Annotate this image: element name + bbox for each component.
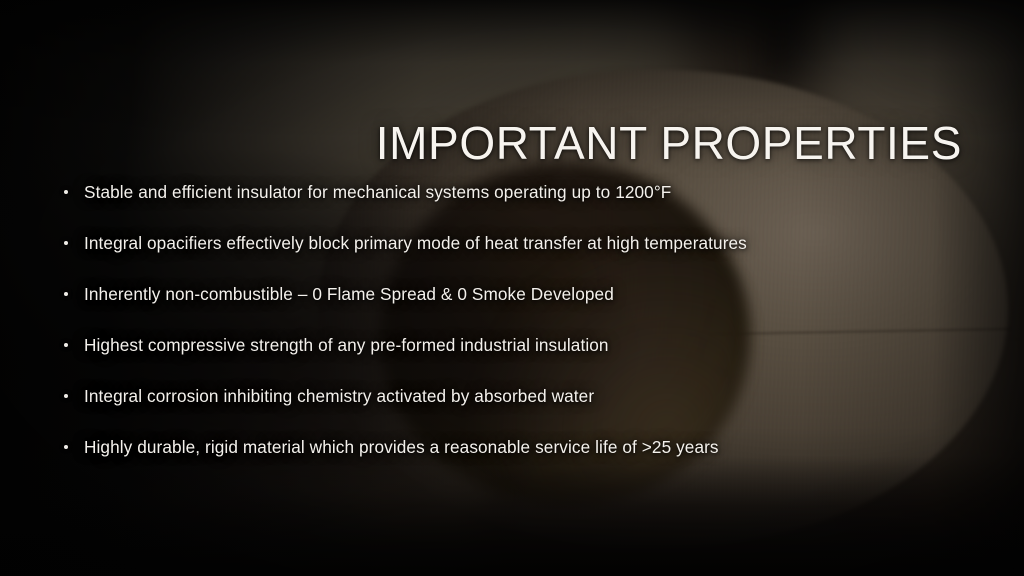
list-item-label: Integral corrosion inhibiting chemistry … bbox=[84, 386, 594, 406]
properties-bullet-list: Stable and efficient insulator for mecha… bbox=[60, 182, 890, 488]
list-item: Highly durable, rigid material which pro… bbox=[60, 437, 890, 459]
list-item: Stable and efficient insulator for mecha… bbox=[60, 182, 890, 204]
bullet-dot-icon bbox=[64, 190, 68, 194]
slide-content: IMPORTANT PROPERTIES Stable and efficien… bbox=[0, 0, 1024, 576]
bullet-dot-icon bbox=[64, 343, 68, 347]
page-title: IMPORTANT PROPERTIES bbox=[376, 119, 962, 168]
presentation-slide: IMPORTANT PROPERTIES Stable and efficien… bbox=[0, 0, 1024, 576]
list-item-label: Stable and efficient insulator for mecha… bbox=[84, 182, 671, 202]
bullet-dot-icon bbox=[64, 394, 68, 398]
bullet-dot-icon bbox=[64, 241, 68, 245]
list-item-label: Highest compressive strength of any pre-… bbox=[84, 335, 609, 355]
list-item: Inherently non-combustible – 0 Flame Spr… bbox=[60, 284, 890, 306]
list-item-label: Inherently non-combustible – 0 Flame Spr… bbox=[84, 284, 614, 304]
bullet-dot-icon bbox=[64, 445, 68, 449]
list-item-label: Highly durable, rigid material which pro… bbox=[84, 437, 719, 457]
list-item: Integral opacifiers effectively block pr… bbox=[60, 233, 890, 255]
list-item: Integral corrosion inhibiting chemistry … bbox=[60, 386, 890, 408]
list-item-label: Integral opacifiers effectively block pr… bbox=[84, 233, 747, 253]
list-item: Highest compressive strength of any pre-… bbox=[60, 335, 890, 357]
bullet-dot-icon bbox=[64, 292, 68, 296]
